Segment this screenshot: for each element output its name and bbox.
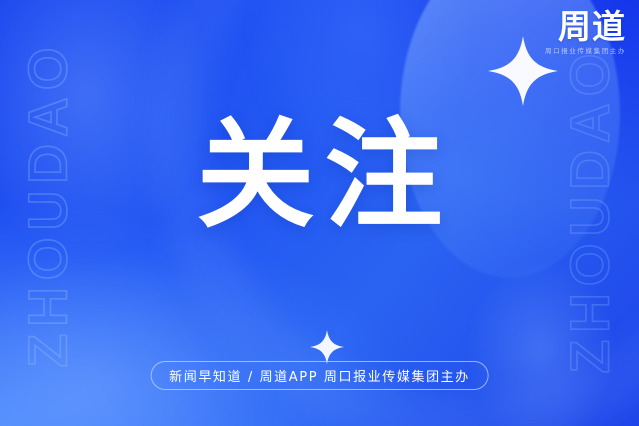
- sparkle-icon-small: [310, 330, 344, 364]
- poster-canvas: ZHOUDAO ZHOUDAO 周道 周口报业传媒集团主办 关注 新闻早知道 /…: [0, 0, 639, 426]
- brand-logo-mark: 周道: [545, 10, 626, 43]
- brand-name: 周道: [558, 10, 626, 43]
- brand-subtitle: 周口报业传媒集团主办: [545, 47, 626, 55]
- headline-text: 关注: [0, 116, 639, 234]
- brand-logo: 周道 周口报业传媒集团主办: [545, 10, 626, 55]
- footer-pill: 新闻早知道 / 周道APP 周口报业传媒集团主办: [150, 361, 489, 390]
- footer-text: 新闻早知道 / 周道APP 周口报业传媒集团主办: [169, 366, 470, 385]
